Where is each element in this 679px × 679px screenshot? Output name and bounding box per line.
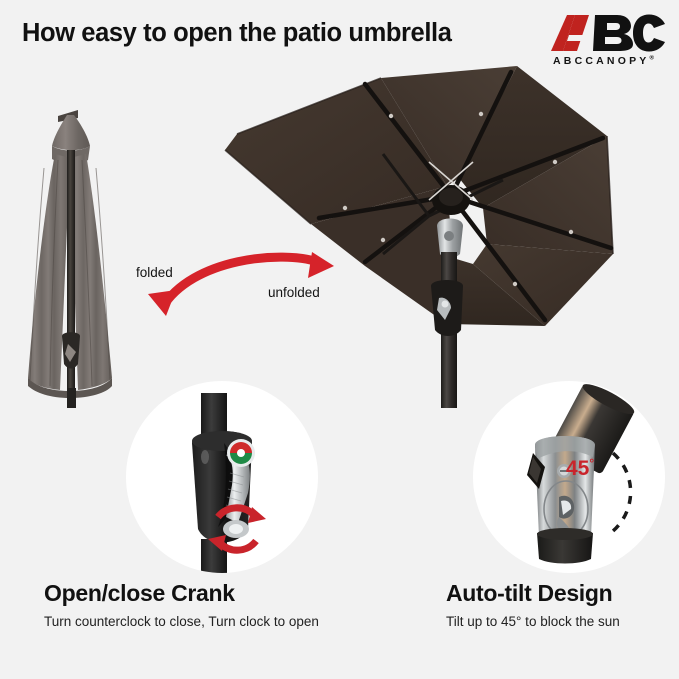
folded-umbrella-illustration xyxy=(18,88,168,408)
folded-umbrella-image xyxy=(18,88,168,408)
open-umbrella-image xyxy=(215,58,615,408)
tilt-caption: Auto-tilt Design Tilt up to 45° to block… xyxy=(446,580,620,629)
crank-caption: Open/close Crank Turn counterclock to cl… xyxy=(44,580,319,629)
crank-caption-subtitle: Turn counterclock to close, Turn clock t… xyxy=(44,614,319,629)
abc-logo-icon xyxy=(549,13,667,53)
label-folded: folded xyxy=(136,265,173,280)
infographic-page: How easy to open the patio umbrella ABCC… xyxy=(0,0,679,679)
degree-symbol: ° xyxy=(589,456,594,470)
crank-caption-title: Open/close Crank xyxy=(44,580,319,607)
page-title: How easy to open the patio umbrella xyxy=(22,19,452,48)
crank-illustration xyxy=(126,381,318,573)
tilt-caption-title: Auto-tilt Design xyxy=(446,580,620,607)
trademark-symbol: ® xyxy=(649,56,653,62)
tilt-angle-value: 45 xyxy=(566,457,589,480)
open-umbrella-illustration xyxy=(215,58,615,408)
label-unfolded: unfolded xyxy=(268,285,320,300)
logo-mark xyxy=(549,13,667,53)
tilt-caption-subtitle: Tilt up to 45° to block the sun xyxy=(446,614,620,629)
tilt-angle-badge: 45° xyxy=(566,456,594,481)
crank-detail-circle xyxy=(126,381,318,573)
